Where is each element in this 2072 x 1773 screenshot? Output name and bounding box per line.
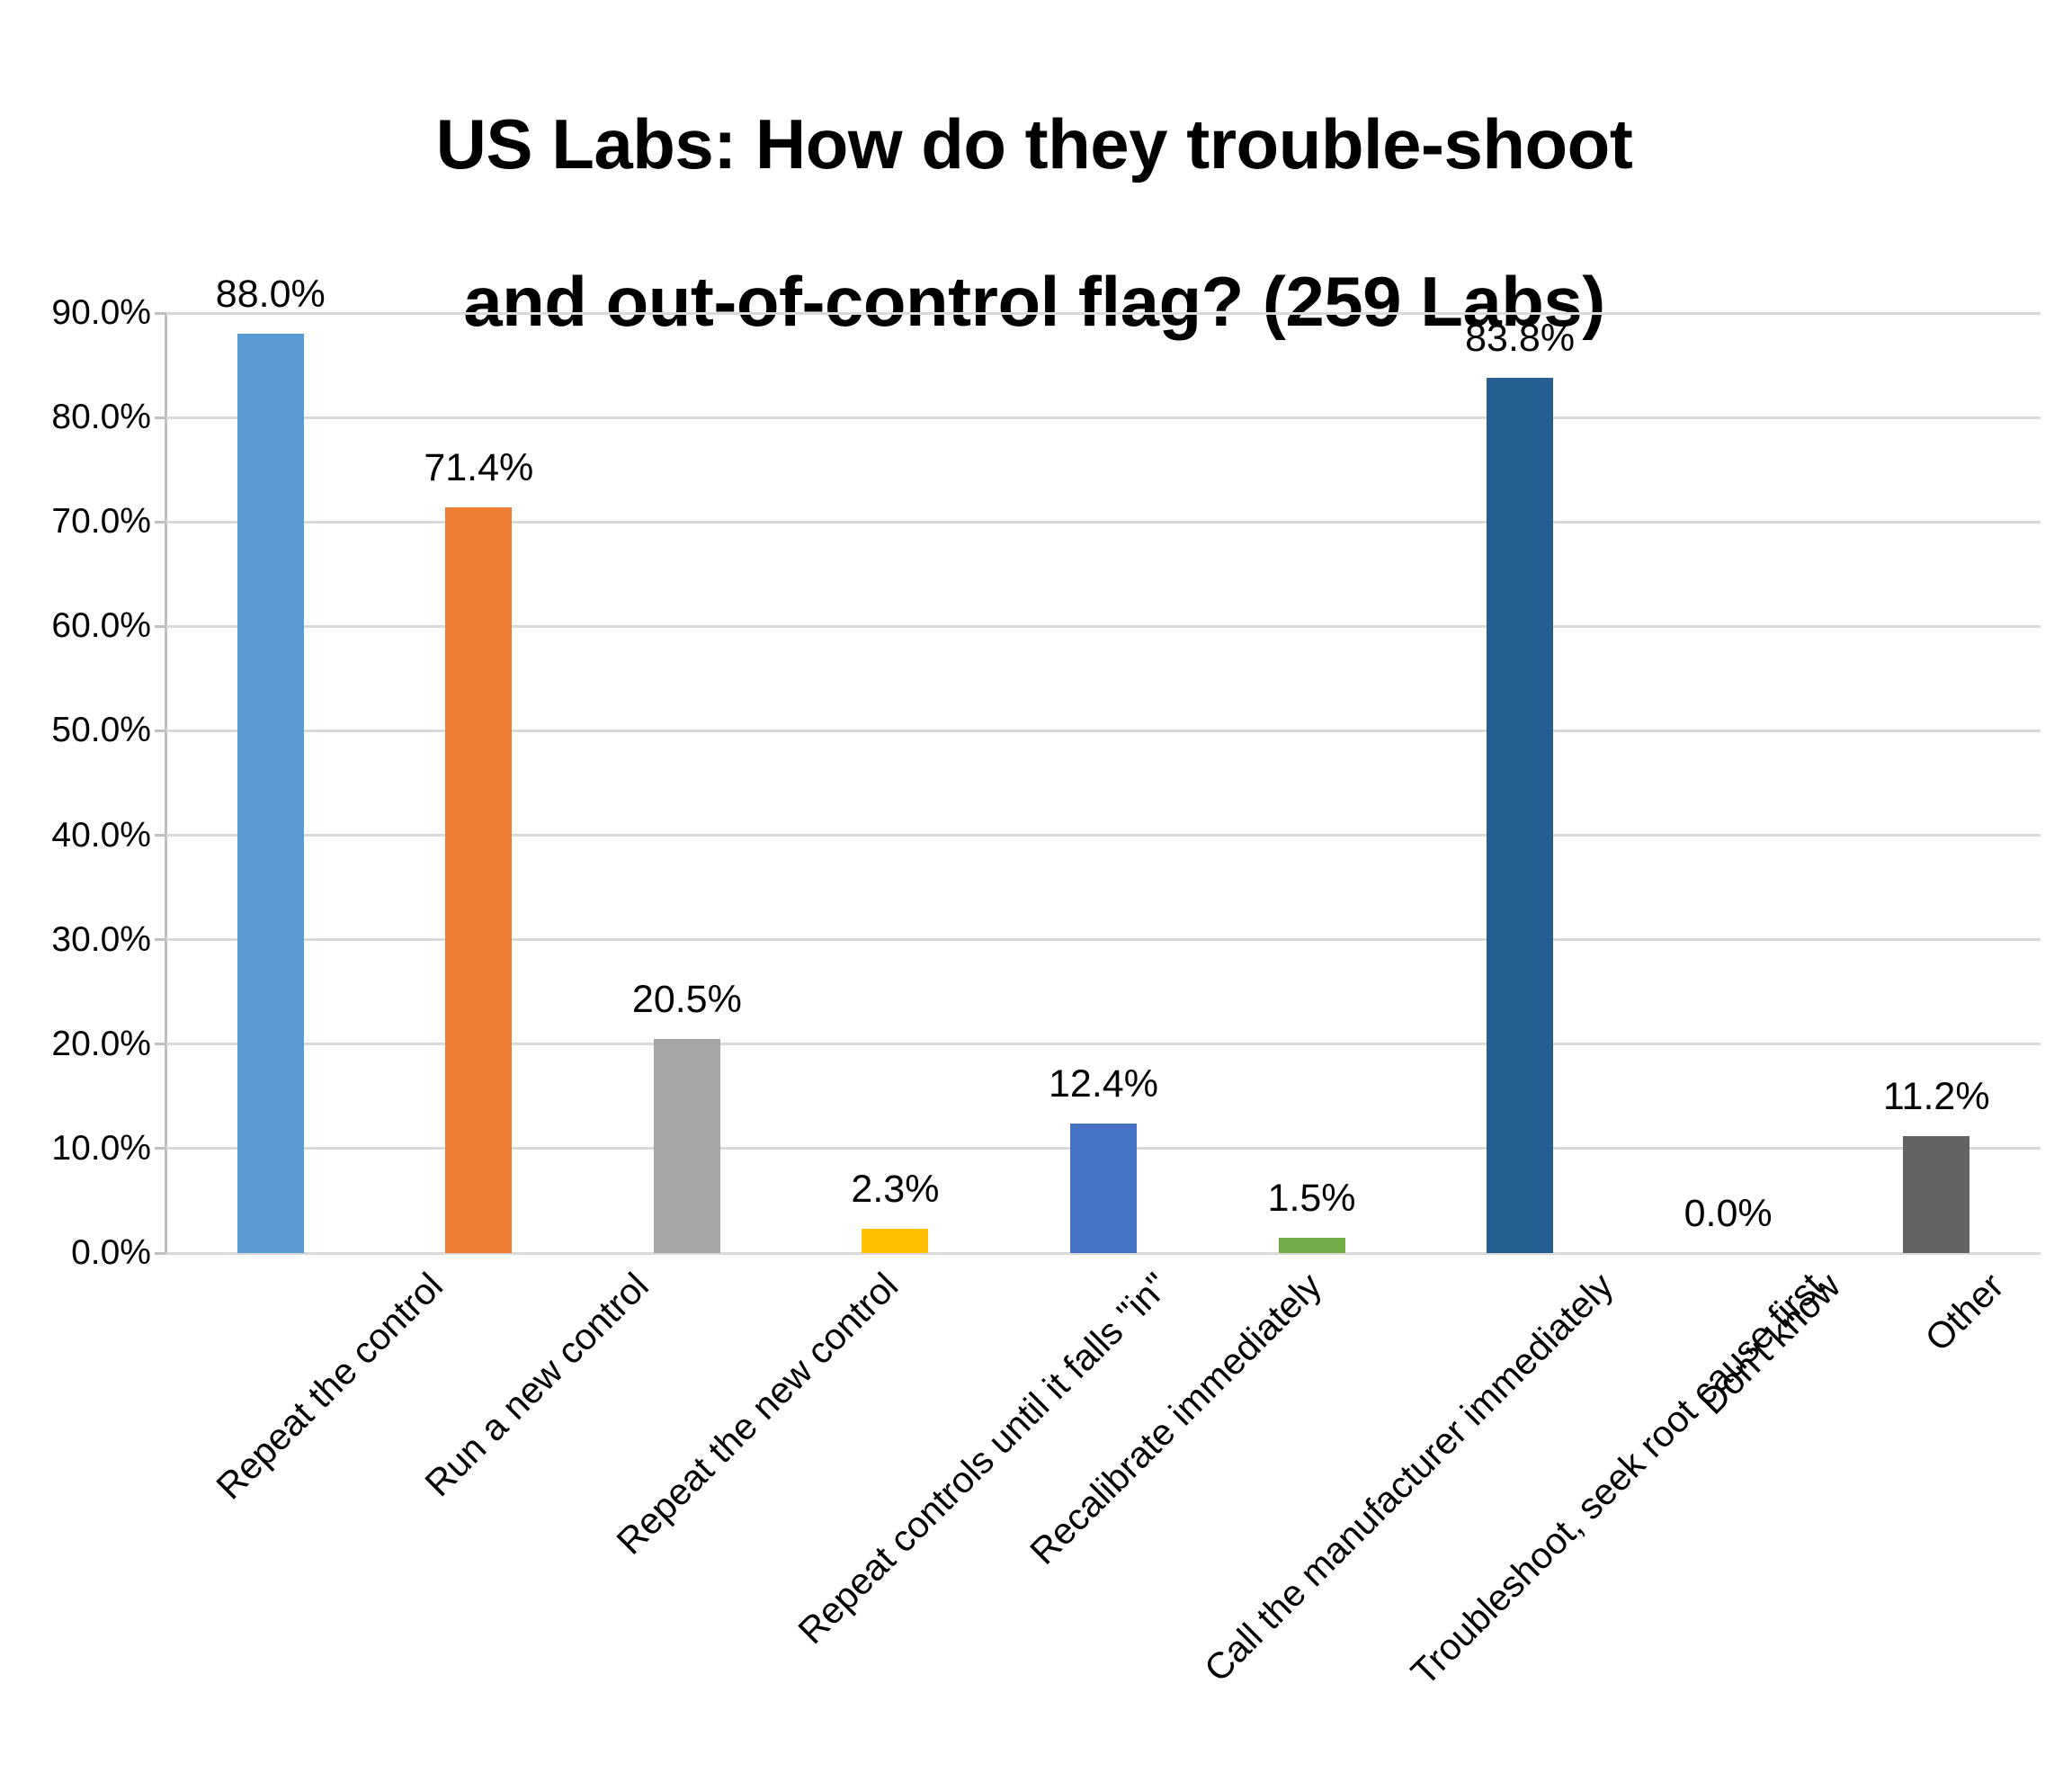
bar-value-label: 1.5% — [1268, 1179, 1356, 1218]
y-axis-tick-label: 10.0% — [7, 1129, 151, 1169]
y-axis-tick-label: 60.0% — [7, 606, 151, 646]
bar-group[interactable]: 88.0% — [166, 313, 375, 1253]
bar-group[interactable]: 1.5% — [1208, 313, 1416, 1253]
y-axis-tick-label: 0.0% — [7, 1233, 151, 1273]
bar-group[interactable]: 12.4% — [999, 313, 1208, 1253]
chart-title-line-1: US Labs: How do they trouble-shoot — [436, 104, 1633, 184]
y-axis-tick-label: 90.0% — [7, 293, 151, 333]
x-axis: Repeat the controlRun a new controlRepea… — [166, 1259, 2041, 1763]
y-axis-tick-label: 30.0% — [7, 920, 151, 960]
plot-area: 88.0%71.4%20.5%2.3%12.4%1.5%83.8%0.0%11.… — [166, 313, 2041, 1253]
bar-value-label: 83.8% — [1465, 319, 1575, 358]
y-axis-tick-label: 50.0% — [7, 711, 151, 750]
bar[interactable] — [862, 1229, 928, 1253]
y-axis-tick-label: 70.0% — [7, 502, 151, 542]
y-axis-tick-label: 40.0% — [7, 816, 151, 855]
bar[interactable] — [1487, 378, 1553, 1253]
bar[interactable] — [1903, 1136, 1969, 1253]
bar-value-label: 2.3% — [851, 1170, 939, 1209]
y-axis: 0.0%10.0%20.0%30.0%40.0%50.0%60.0%70.0%8… — [0, 313, 151, 1253]
bar-group[interactable]: 20.5% — [583, 313, 791, 1253]
x-axis-tick-label: Other — [1917, 1265, 2013, 1360]
bar-group[interactable]: 71.4% — [375, 313, 584, 1253]
bar-value-label: 71.4% — [424, 449, 533, 488]
bar-value-label: 0.0% — [1684, 1195, 1773, 1233]
bar-group[interactable]: 83.8% — [1416, 313, 1624, 1253]
bar-chart: US Labs: How do they trouble-shoot and o… — [0, 0, 2072, 1773]
x-axis-label-slot: Run a new control — [375, 1259, 584, 1763]
x-axis-label-slot: Other — [1832, 1259, 2041, 1763]
y-axis-tick-label: 80.0% — [7, 398, 151, 437]
y-axis-tick-label: 20.0% — [7, 1025, 151, 1064]
x-axis-label-slot: Repeat the new control — [583, 1259, 791, 1763]
x-axis-label-slot: Don't know — [1624, 1259, 1833, 1763]
x-axis-label-slot: Call the manufacturer immediately — [1208, 1259, 1416, 1763]
bar-group[interactable]: 0.0% — [1624, 313, 1833, 1253]
x-axis-tick-label: Don't know — [1691, 1265, 1849, 1423]
chart-title: US Labs: How do they trouble-shoot and o… — [108, 27, 1960, 341]
x-axis-label-slot: Recalibrate immediately — [999, 1259, 1208, 1763]
bars-layer: 88.0%71.4%20.5%2.3%12.4%1.5%83.8%0.0%11.… — [166, 313, 2041, 1253]
bar[interactable] — [1279, 1238, 1345, 1253]
x-axis-label-slot: Repeat the control — [166, 1259, 375, 1763]
bar[interactable] — [1070, 1124, 1137, 1253]
x-axis-label-slot: Troubleshoot, seek root cause first — [1416, 1259, 1624, 1763]
bar-value-label: 11.2% — [1883, 1078, 1990, 1116]
bar-value-label: 20.5% — [632, 981, 742, 1019]
bar[interactable] — [654, 1039, 720, 1253]
x-axis-label-slot: Repeat controls until it falls "in" — [791, 1259, 1000, 1763]
bar-value-label: 12.4% — [1049, 1065, 1158, 1104]
bar-group[interactable]: 11.2% — [1832, 313, 2041, 1253]
bar-group[interactable]: 2.3% — [791, 313, 1000, 1253]
bar[interactable] — [445, 507, 512, 1253]
bar-value-label: 88.0% — [216, 275, 326, 314]
bar[interactable] — [237, 334, 304, 1253]
